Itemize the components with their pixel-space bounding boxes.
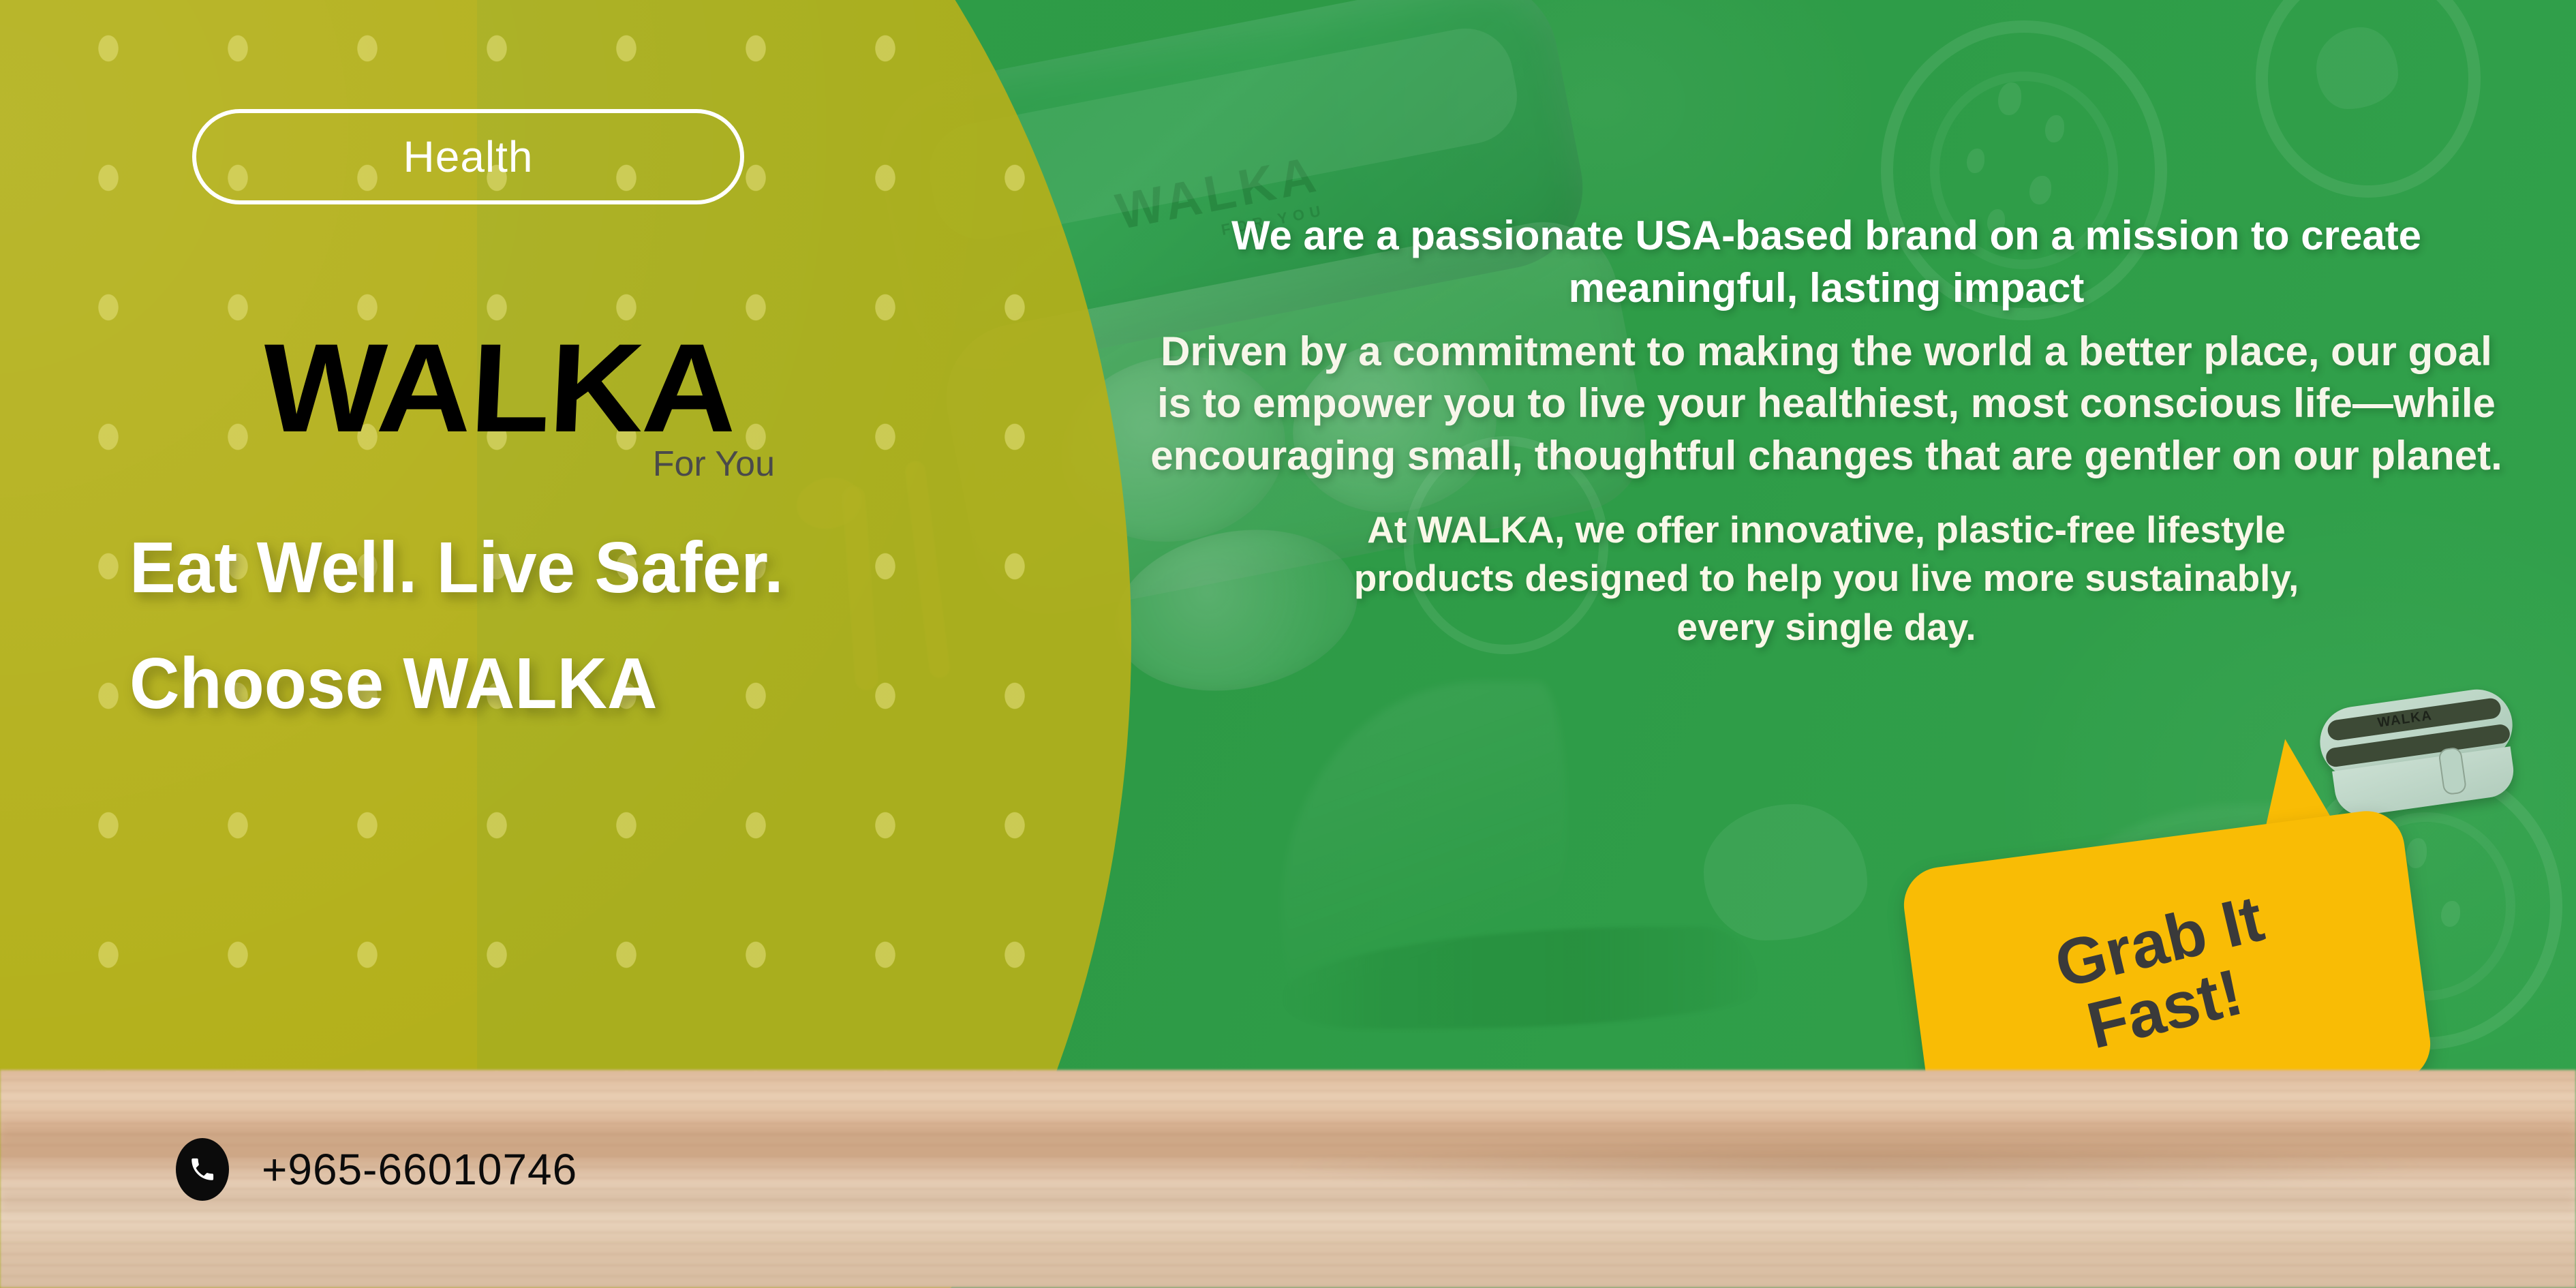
headline-line-2: Choose WALKA bbox=[129, 647, 1058, 720]
contact-phone[interactable]: +965-66010746 bbox=[176, 1138, 577, 1201]
description-paragraph-1: We are a passionate USA-based brand on a… bbox=[1145, 210, 2508, 315]
avocado-doodle-icon bbox=[2256, 0, 2481, 198]
headline: Eat Well. Live Safer. Choose WALKA bbox=[129, 532, 1058, 720]
description-paragraph-2: Driven by a commitment to making the wor… bbox=[1145, 326, 2508, 482]
pea-pod-doodle-icon bbox=[1704, 804, 1867, 940]
phone-icon bbox=[176, 1138, 229, 1201]
phone-number: +965-66010746 bbox=[262, 1144, 577, 1195]
category-badge-health[interactable]: Health bbox=[192, 109, 744, 204]
brand-logo: WALKA For You bbox=[262, 331, 780, 485]
brand-logo-name: WALKA bbox=[260, 331, 803, 446]
brand-description: We are a passionate USA-based brand on a… bbox=[1145, 210, 2508, 656]
category-badge-label: Health bbox=[403, 132, 534, 182]
promotional-banner: WALKA FOR YOU Health WALKA For You Eat W… bbox=[0, 0, 2576, 1288]
headline-line-1: Eat Well. Live Safer. bbox=[129, 532, 1058, 604]
description-paragraph-3: At WALKA, we offer innovative, plastic-f… bbox=[1325, 506, 2327, 652]
